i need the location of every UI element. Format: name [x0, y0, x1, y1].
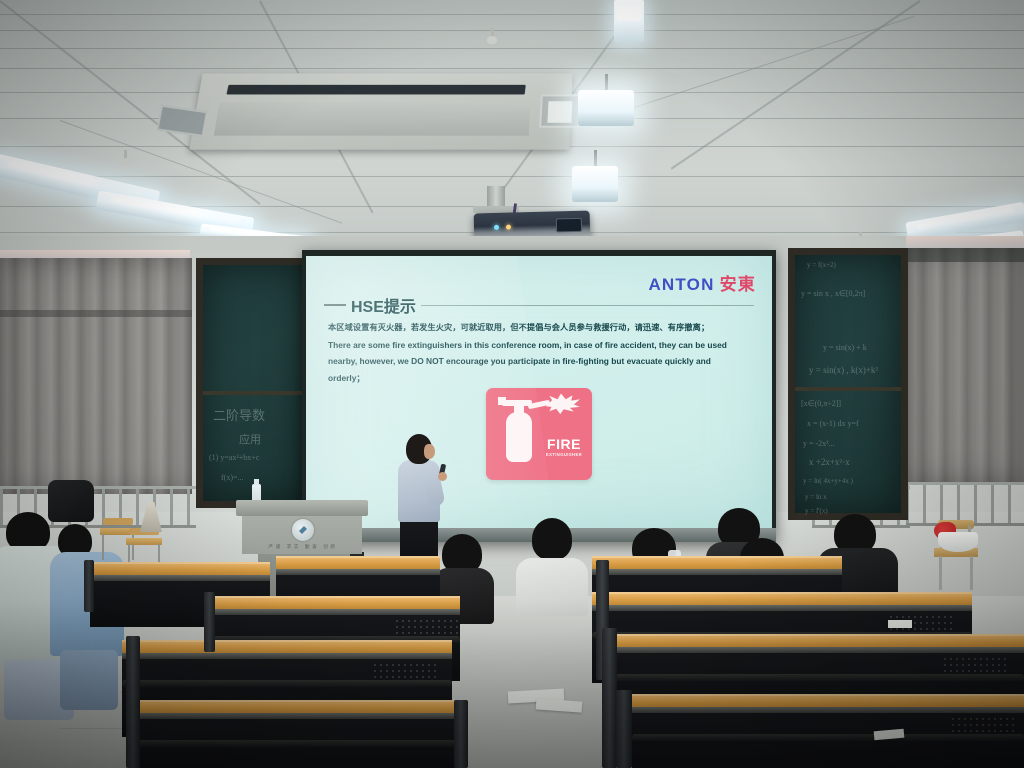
hanging-lamp — [572, 150, 618, 200]
podium-motto: 严谨 求实 勤奋 创新 — [258, 544, 348, 550]
chalk-line: 二阶导数 — [213, 405, 265, 424]
desk-upright — [204, 592, 215, 652]
projector-mount — [487, 186, 505, 212]
chalk-line: y = f(x+2) — [807, 261, 836, 269]
flame-icon — [546, 392, 580, 416]
slide-body-chinese: 本区域设置有灭火器，若发生火灾，可就近取用，但不提倡与会人员参与救援行动，请迅速… — [328, 320, 742, 337]
curtain-right — [908, 248, 1024, 484]
hanging-lamp — [578, 74, 634, 132]
chalk-line: y = ln x — [805, 493, 827, 501]
anton-logo: ANTON安東 — [648, 270, 756, 295]
chalk-line: y = sin(x) + k — [823, 343, 867, 352]
desk-upright — [84, 560, 94, 612]
logo-text-cn: 安東 — [720, 275, 756, 294]
sprinkler-icon — [120, 150, 130, 166]
title-rule-right — [421, 305, 754, 306]
ceiling-ac-unit — [189, 73, 572, 149]
title-rule-left — [324, 304, 346, 306]
desk-upright — [616, 690, 632, 768]
paper-sheet — [888, 620, 912, 628]
ceiling-light-strip — [614, 0, 644, 42]
fire-extinguisher-sign: FIRE EXTINGUISHER — [486, 388, 592, 480]
chalk-line: (1) y=ax²+bx+c — [209, 453, 259, 462]
slide-title: HSE提示 — [346, 293, 421, 317]
fire-label-main: FIRE — [540, 436, 588, 452]
chalk-line: f(x)=... — [221, 473, 244, 482]
blackboard-right: y = f(x+2) y = sin x , x∈[0,2π] y = sin(… — [788, 248, 908, 520]
ac-vent-right — [539, 94, 580, 127]
desk-row-1-left — [138, 700, 466, 768]
projection-screen[interactable]: ANTON安東 HSE提示 本区域设置有灭火器，若发生火灾，可就近取用，但不提倡… — [306, 256, 772, 530]
desk-upright — [126, 636, 140, 768]
slide-body: 本区域设置有灭火器，若发生火灾，可就近取用，但不提倡与会人员参与救援行动，请迅速… — [328, 320, 742, 386]
projector-lens — [556, 218, 582, 233]
chalk-line: y = sin(x) , k(x)+k² — [809, 365, 878, 375]
student-center-2 — [516, 518, 588, 614]
chalk-line: y = sin x , x∈[0,2π] — [801, 289, 865, 298]
logo-text-en: ANTON — [648, 275, 714, 294]
sprinkler-icon — [487, 28, 497, 44]
desk-row-1-right — [632, 694, 1024, 768]
chalk-line: [x∈(0,π÷2]] — [801, 399, 841, 408]
desk-upright — [602, 628, 617, 768]
backpack — [48, 480, 94, 522]
chalk-line: 应用 — [239, 431, 261, 447]
chalk-line: y = ln( 4x+y+4x ) — [803, 477, 853, 485]
chair-with-basin — [934, 520, 982, 598]
chalk-line: y = -2x²... — [803, 439, 835, 448]
chalk-line: x = (x-1) dx y=f — [807, 419, 859, 428]
chalk-line: x +2x+x²·x — [809, 457, 850, 467]
white-basin — [938, 532, 978, 552]
curtain-left — [0, 258, 192, 494]
blackboard-left: 二阶导数 应用 (1) y=ax²+bx+c f(x)=... — [196, 258, 314, 508]
slide-title-row: HSE提示 — [324, 294, 754, 316]
lecture-hall-photo: 二阶导数 应用 (1) y=ax²+bx+c f(x)=... y = f(x+… — [0, 0, 1024, 768]
fire-extinguisher-icon — [506, 412, 532, 462]
slide-body-english: There are some fire extinguishers in thi… — [328, 337, 742, 387]
fire-sign-label: FIRE EXTINGUISHER — [540, 436, 588, 457]
school-crest-icon — [292, 519, 314, 541]
desk-upright — [454, 700, 468, 768]
fire-label-sub: EXTINGUISHER — [540, 452, 588, 457]
